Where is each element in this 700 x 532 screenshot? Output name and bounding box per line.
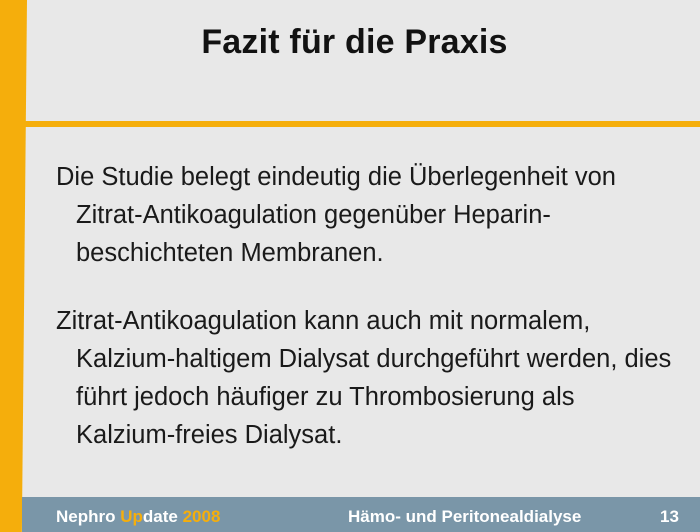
footer-brand: Nephro Update 2008 — [56, 507, 220, 527]
presentation-slide: Fazit für die Praxis Die Studie belegt e… — [0, 0, 700, 532]
footer-brand-up: Up — [120, 507, 143, 526]
page-title: Fazit für die Praxis — [27, 24, 682, 61]
body-paragraph-1: Die Studie belegt eindeutig die Überlege… — [56, 158, 676, 272]
footer-brand-year: 2008 — [183, 507, 221, 526]
title-band: Fazit für die Praxis — [27, 0, 700, 121]
footer-brand-date: date — [143, 507, 183, 526]
body-paragraph-2: Zitrat-Antikoagulation kann auch mit nor… — [56, 302, 676, 454]
title-divider-rule — [22, 121, 700, 127]
left-accent-stripe — [0, 0, 27, 532]
footer-brand-nephro: Nephro — [56, 507, 120, 526]
footer-page-number: 13 — [660, 507, 679, 527]
slide-body: Die Studie belegt eindeutig die Überlege… — [56, 158, 676, 454]
footer-session-label: Hämo- und Peritonealdialyse — [348, 507, 581, 527]
